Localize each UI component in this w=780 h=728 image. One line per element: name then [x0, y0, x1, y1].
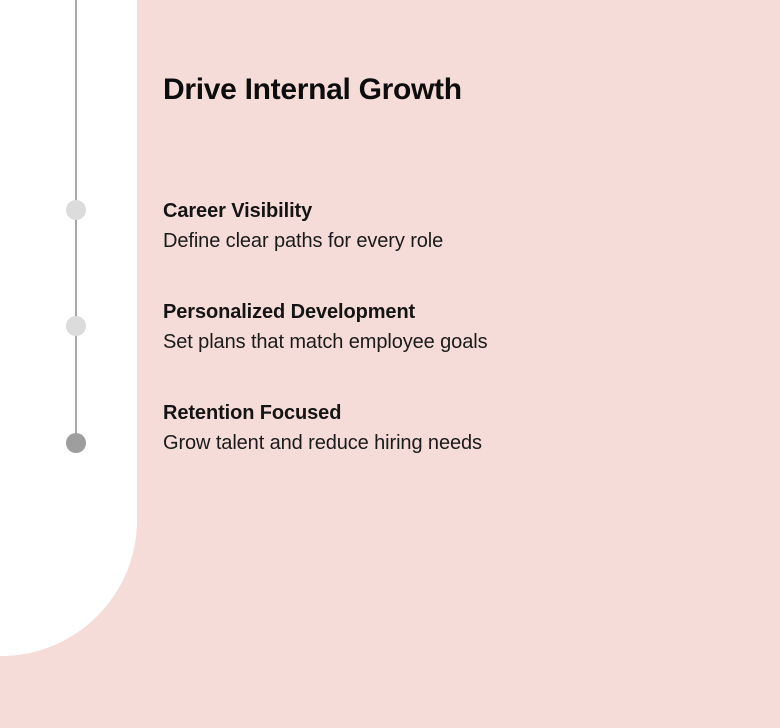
- slide-canvas: Drive Internal Growth Career Visibility …: [0, 0, 780, 728]
- item-title: Career Visibility: [163, 198, 780, 225]
- item-title: Personalized Development: [163, 299, 780, 326]
- feature-list: Career Visibility Define clear paths for…: [163, 198, 780, 457]
- timeline-rail: [75, 0, 77, 443]
- item-description: Grow talent and reduce hiring needs: [163, 430, 780, 457]
- list-item: Personalized Development Set plans that …: [163, 299, 780, 356]
- list-item: Retention Focused Grow talent and reduce…: [163, 400, 780, 457]
- list-item: Career Visibility Define clear paths for…: [163, 198, 780, 255]
- item-description: Define clear paths for every role: [163, 228, 780, 255]
- item-title: Retention Focused: [163, 400, 780, 427]
- item-description: Set plans that match employee goals: [163, 329, 780, 356]
- content-column: Drive Internal Growth Career Visibility …: [163, 0, 780, 728]
- timeline-dot-3[interactable]: [66, 433, 86, 453]
- page-title: Drive Internal Growth: [163, 72, 462, 108]
- timeline-dot-2[interactable]: [66, 316, 86, 336]
- timeline-dot-1[interactable]: [66, 200, 86, 220]
